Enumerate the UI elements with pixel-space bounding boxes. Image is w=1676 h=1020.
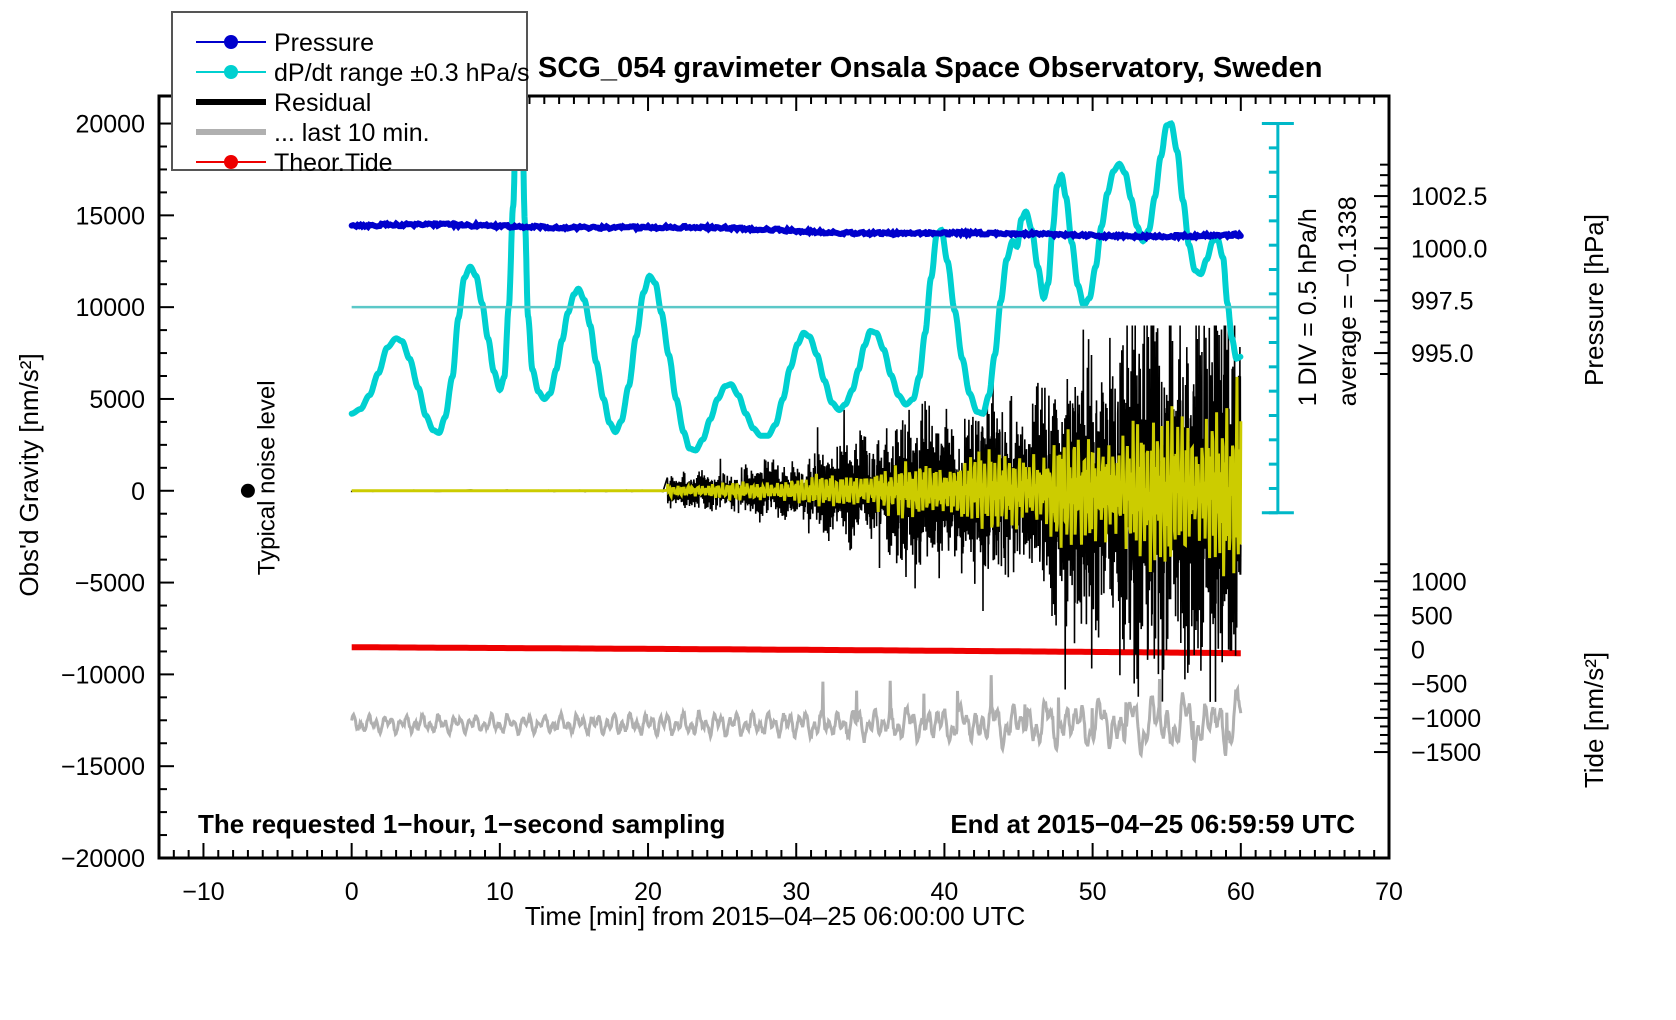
y-tick-label: 5000 xyxy=(89,386,145,414)
y-tick-label: 10000 xyxy=(75,294,145,322)
gravimeter-chart: −10010203040506070 −20000−15000−10000−50… xyxy=(0,0,1676,1020)
average-note: average = −0.1338 xyxy=(1334,196,1362,406)
y-tick-label: −20000 xyxy=(61,845,145,873)
right-tide-tick-label: −1000 xyxy=(1411,705,1481,733)
right-tide-tick-label: −500 xyxy=(1411,671,1467,699)
x-tick-label: 60 xyxy=(1227,878,1255,906)
y-axis-title: Obs'd Gravity [nm/s²] xyxy=(14,353,44,596)
right-axis-title-pressure: Pressure [hPa] xyxy=(1579,214,1609,386)
legend-marker xyxy=(224,35,238,49)
div-scale-note: 1 DIV = 0.5 hPa/h xyxy=(1294,208,1322,406)
x-tick-label: 10 xyxy=(486,878,514,906)
x-tick-label: 70 xyxy=(1375,878,1403,906)
y-tick-label: −10000 xyxy=(61,661,145,689)
x-axis-title: Time [min] from 2015–04–25 06:00:00 UTC xyxy=(525,901,1026,931)
page-title: SCG_054 gravimeter Onsala Space Observat… xyxy=(538,52,1322,84)
right-tide-tick-label: 500 xyxy=(1411,602,1453,630)
x-tick-label: 50 xyxy=(1079,878,1107,906)
right-pressure-tick-label: 1002.5 xyxy=(1411,183,1487,211)
end-time-note: End at 2015−04−25 06:59:59 UTC xyxy=(950,809,1355,839)
right-axis-title-tide: Tide [nm/s²] xyxy=(1579,652,1609,788)
right-tide-tick-label: 1000 xyxy=(1411,568,1467,596)
y-tick-label: −15000 xyxy=(61,753,145,781)
y-tick-label: 15000 xyxy=(75,202,145,230)
y-tick-label: 0 xyxy=(131,478,145,506)
legend-label: Theor.Tide xyxy=(274,149,393,177)
right-tide-tick-label: −1500 xyxy=(1411,739,1481,767)
right-tide-tick-label: 0 xyxy=(1411,637,1425,665)
x-tick-label: 0 xyxy=(345,878,359,906)
legend-label: dP/dt range ±0.3 hPa/s xyxy=(274,59,530,87)
sampling-note: The requested 1−hour, 1−second sampling xyxy=(198,809,725,839)
right-pressure-tick-label: 995.0 xyxy=(1411,340,1474,368)
y-tick-label: 20000 xyxy=(75,111,145,139)
legend-marker xyxy=(224,65,238,79)
typical-noise-level-label: Typical noise level xyxy=(254,380,281,575)
legend-marker xyxy=(224,155,238,169)
right-pressure-tick-label: 997.5 xyxy=(1411,288,1474,316)
legend-label: ... last 10 min. xyxy=(274,119,430,147)
y-tick-label: −5000 xyxy=(75,570,145,598)
legend[interactable]: PressuredP/dt range ±0.3 hPa/sResidual..… xyxy=(172,12,530,177)
legend-label: Residual xyxy=(274,89,371,117)
right-pressure-tick-label: 1000.0 xyxy=(1411,235,1487,263)
legend-label: Pressure xyxy=(274,29,374,57)
x-tick-label: −10 xyxy=(182,878,224,906)
chart-page: −10010203040506070 −20000−15000−10000−50… xyxy=(0,0,1676,1020)
